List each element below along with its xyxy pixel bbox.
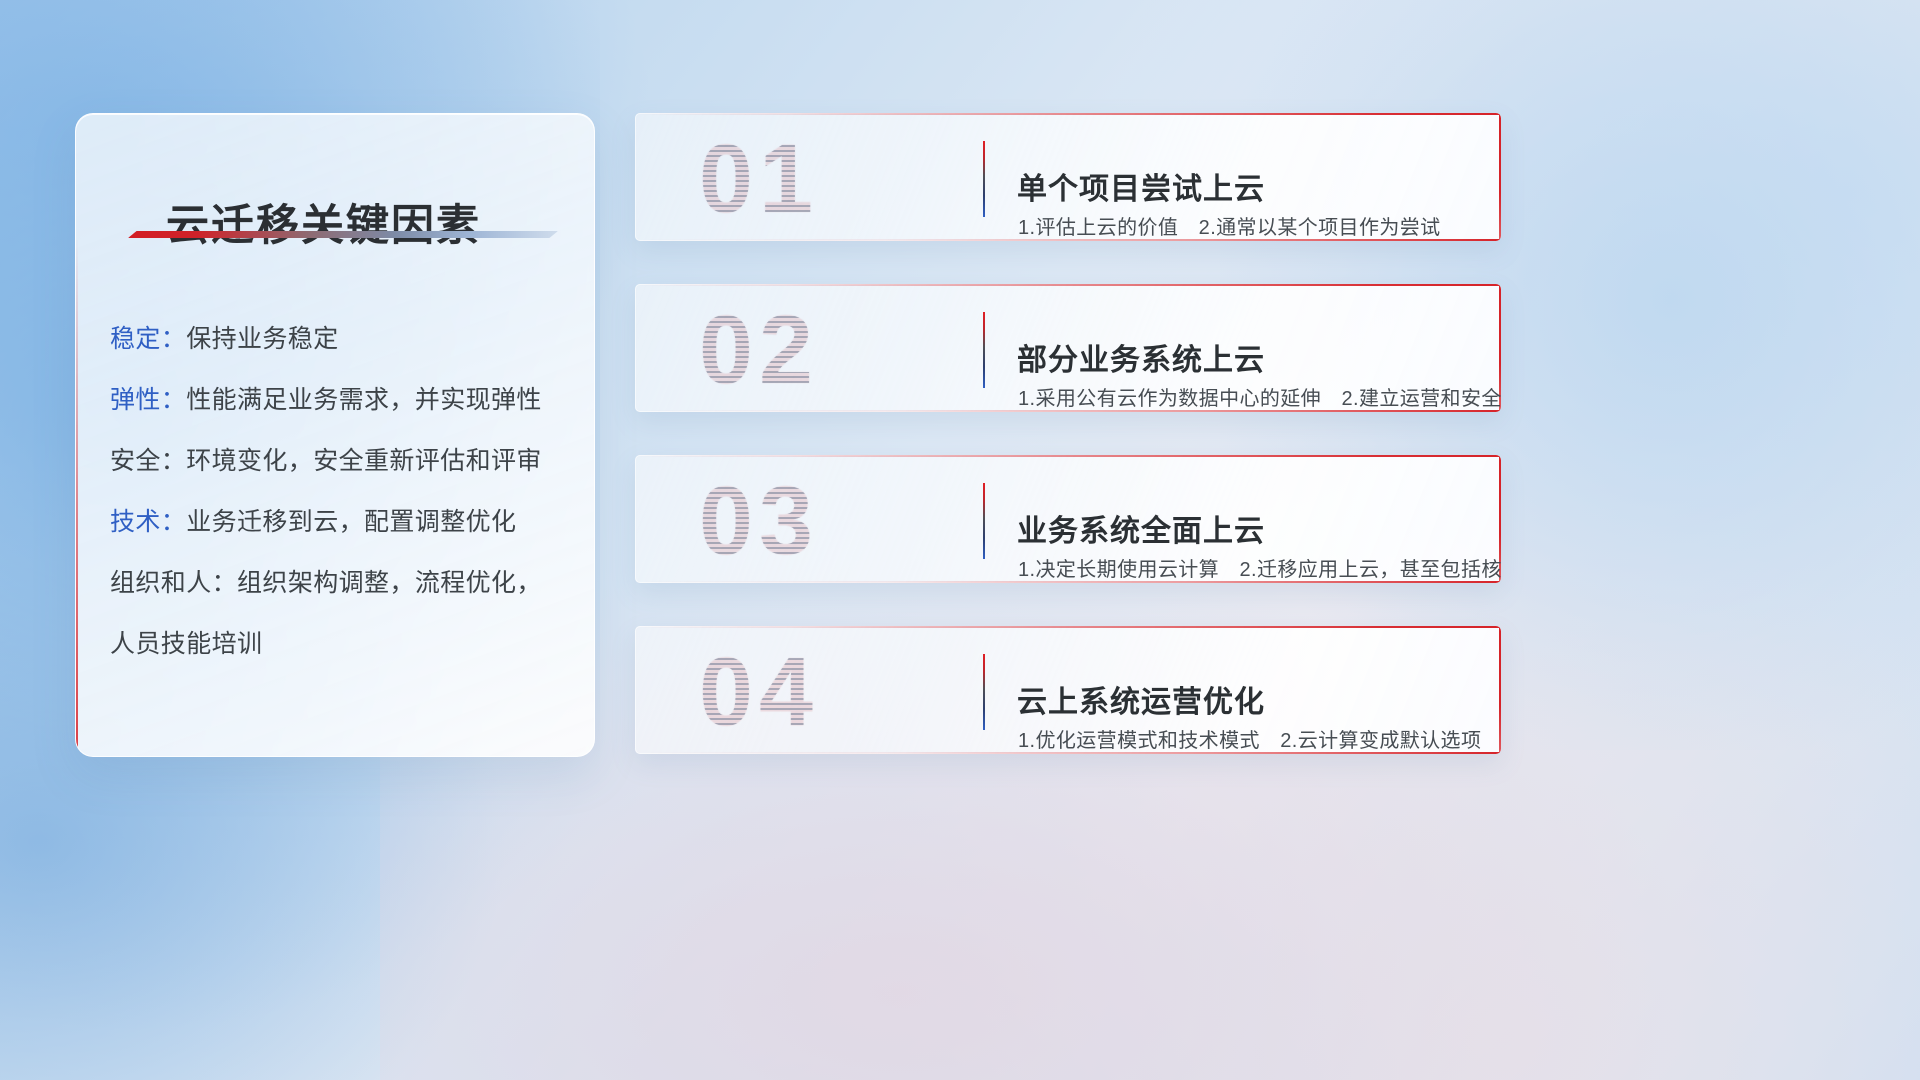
list-item-text: 保持业务稳定 — [186, 325, 338, 353]
list-item: 技术：业务迁移到云，配置调整优化 — [110, 492, 570, 553]
card-top-border — [635, 113, 1501, 115]
slide-canvas: 云迁移关键因素 稳定：保持业务稳定 弹性：性能满足业务需求，并实现弹性 安全：环… — [0, 0, 1920, 1080]
list-item-key: 技术： — [110, 508, 186, 536]
list-item-key: 弹性： — [110, 386, 186, 414]
card-title: 云上系统运营优化 — [1017, 677, 1265, 721]
card-divider-bar — [983, 654, 985, 730]
card-number: 03 — [661, 467, 857, 575]
card-right-border — [1499, 113, 1501, 241]
card-description: 1.采用公有云作为数据中心的延伸 2.建立运营和安全规范 — [1018, 382, 1501, 411]
card-description: 1.评估上云的价值 2.通常以某个项目作为尝试 — [1018, 211, 1441, 240]
card-top-border — [635, 455, 1501, 457]
card-title: 业务系统全面上云 — [1017, 506, 1265, 550]
card-divider-bar — [983, 483, 985, 559]
card-description: 1.优化运营模式和技术模式 2.云计算变成默认选项 — [1018, 724, 1481, 753]
card-title: 部分业务系统上云 — [1017, 335, 1265, 379]
list-item-text: 性能满足业务需求，并实现弹性 — [186, 386, 542, 414]
list-item-key: 组织和人： — [110, 569, 237, 597]
card-divider-bar — [983, 312, 985, 388]
card-top-border — [635, 626, 1501, 628]
title-underline-gradient — [128, 231, 558, 238]
stage-card[interactable]: 04 04 云上系统运营优化 1.优化运营模式和技术模式 2.云计算变成默认选项 — [635, 626, 1501, 754]
card-number: 01 — [661, 125, 857, 233]
card-number: 02 — [661, 296, 857, 404]
stage-card-list: 01 01 单个项目尝试上云 1.评估上云的价值 2.通常以某个项目作为尝试 0… — [635, 113, 1501, 797]
list-item-text: 业务迁移到云，配置调整优化 — [186, 508, 516, 536]
card-divider-bar — [983, 141, 985, 217]
card-right-border — [1499, 626, 1501, 754]
key-factors-list: 稳定：保持业务稳定 弹性：性能满足业务需求，并实现弹性 安全：环境变化，安全重新… — [110, 309, 570, 675]
key-factors-panel: 云迁移关键因素 稳定：保持业务稳定 弹性：性能满足业务需求，并实现弹性 安全：环… — [75, 113, 595, 757]
panel-title: 云迁移关键因素 — [166, 191, 481, 253]
stage-card[interactable]: 02 02 部分业务系统上云 1.采用公有云作为数据中心的延伸 2.建立运营和安… — [635, 284, 1501, 412]
list-item: 安全：环境变化，安全重新评估和评审 — [110, 431, 570, 492]
card-top-border — [635, 284, 1501, 286]
list-item-key: 安全： — [110, 447, 186, 475]
list-item-text: 组织架构调整，流程优化， — [237, 569, 542, 597]
card-title: 单个项目尝试上云 — [1017, 164, 1265, 208]
list-item: 组织和人：组织架构调整，流程优化， — [110, 553, 570, 614]
card-description: 1.决定长期使用云计算 2.迁移应用上云，甚至包括核心应用 — [1018, 553, 1501, 582]
stage-card[interactable]: 01 01 单个项目尝试上云 1.评估上云的价值 2.通常以某个项目作为尝试 — [635, 113, 1501, 241]
list-item-text: 人员技能培训 — [110, 630, 262, 658]
list-item: 稳定：保持业务稳定 — [110, 309, 570, 370]
list-item: 人员技能培训 — [110, 614, 570, 675]
list-item-text: 环境变化，安全重新评估和评审 — [186, 447, 542, 475]
list-item-key: 稳定： — [110, 325, 186, 353]
stage-card[interactable]: 03 03 业务系统全面上云 1.决定长期使用云计算 2.迁移应用上云，甚至包括… — [635, 455, 1501, 583]
list-item: 弹性：性能满足业务需求，并实现弹性 — [110, 370, 570, 431]
card-number: 04 — [661, 638, 857, 746]
